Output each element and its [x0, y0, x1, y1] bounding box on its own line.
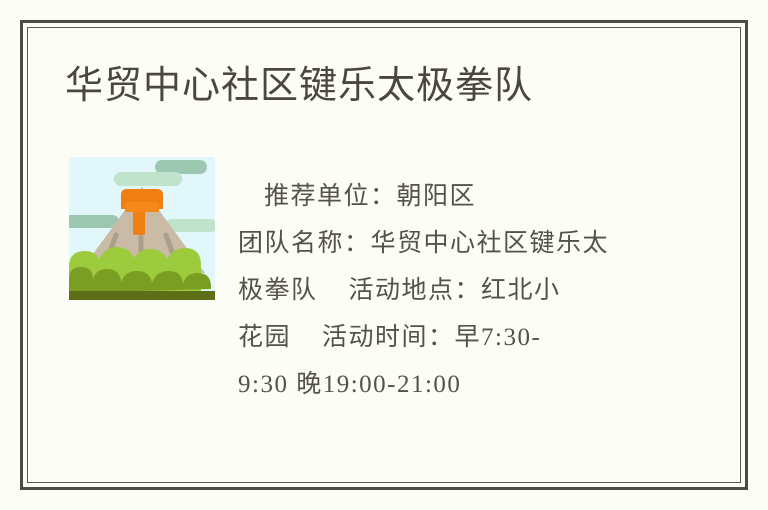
volcano-icon: [69, 157, 215, 300]
team-details-text: 推荐单位：朝阳区 团队名称：华贸中心社区键乐太 极拳队 活动地点：红北小 花园 …: [238, 173, 678, 408]
detail-line-5: 9:30 晚19:00-21:00: [238, 361, 678, 408]
detail-line-3: 极拳队 活动地点：红北小: [238, 267, 678, 314]
detail-line-2: 团队名称：华贸中心社区键乐太: [238, 220, 678, 267]
volcano-illustration: [69, 157, 215, 300]
detail-line-4: 花园 活动时间：早7:30-: [238, 314, 678, 361]
content-card-inner-border: 华贸中心社区键乐太极拳队: [27, 27, 741, 483]
content-card: 华贸中心社区键乐太极拳队: [20, 20, 748, 490]
page-title: 华贸中心社区键乐太极拳队: [65, 63, 533, 111]
detail-line-1: 推荐单位：朝阳区: [238, 173, 678, 220]
